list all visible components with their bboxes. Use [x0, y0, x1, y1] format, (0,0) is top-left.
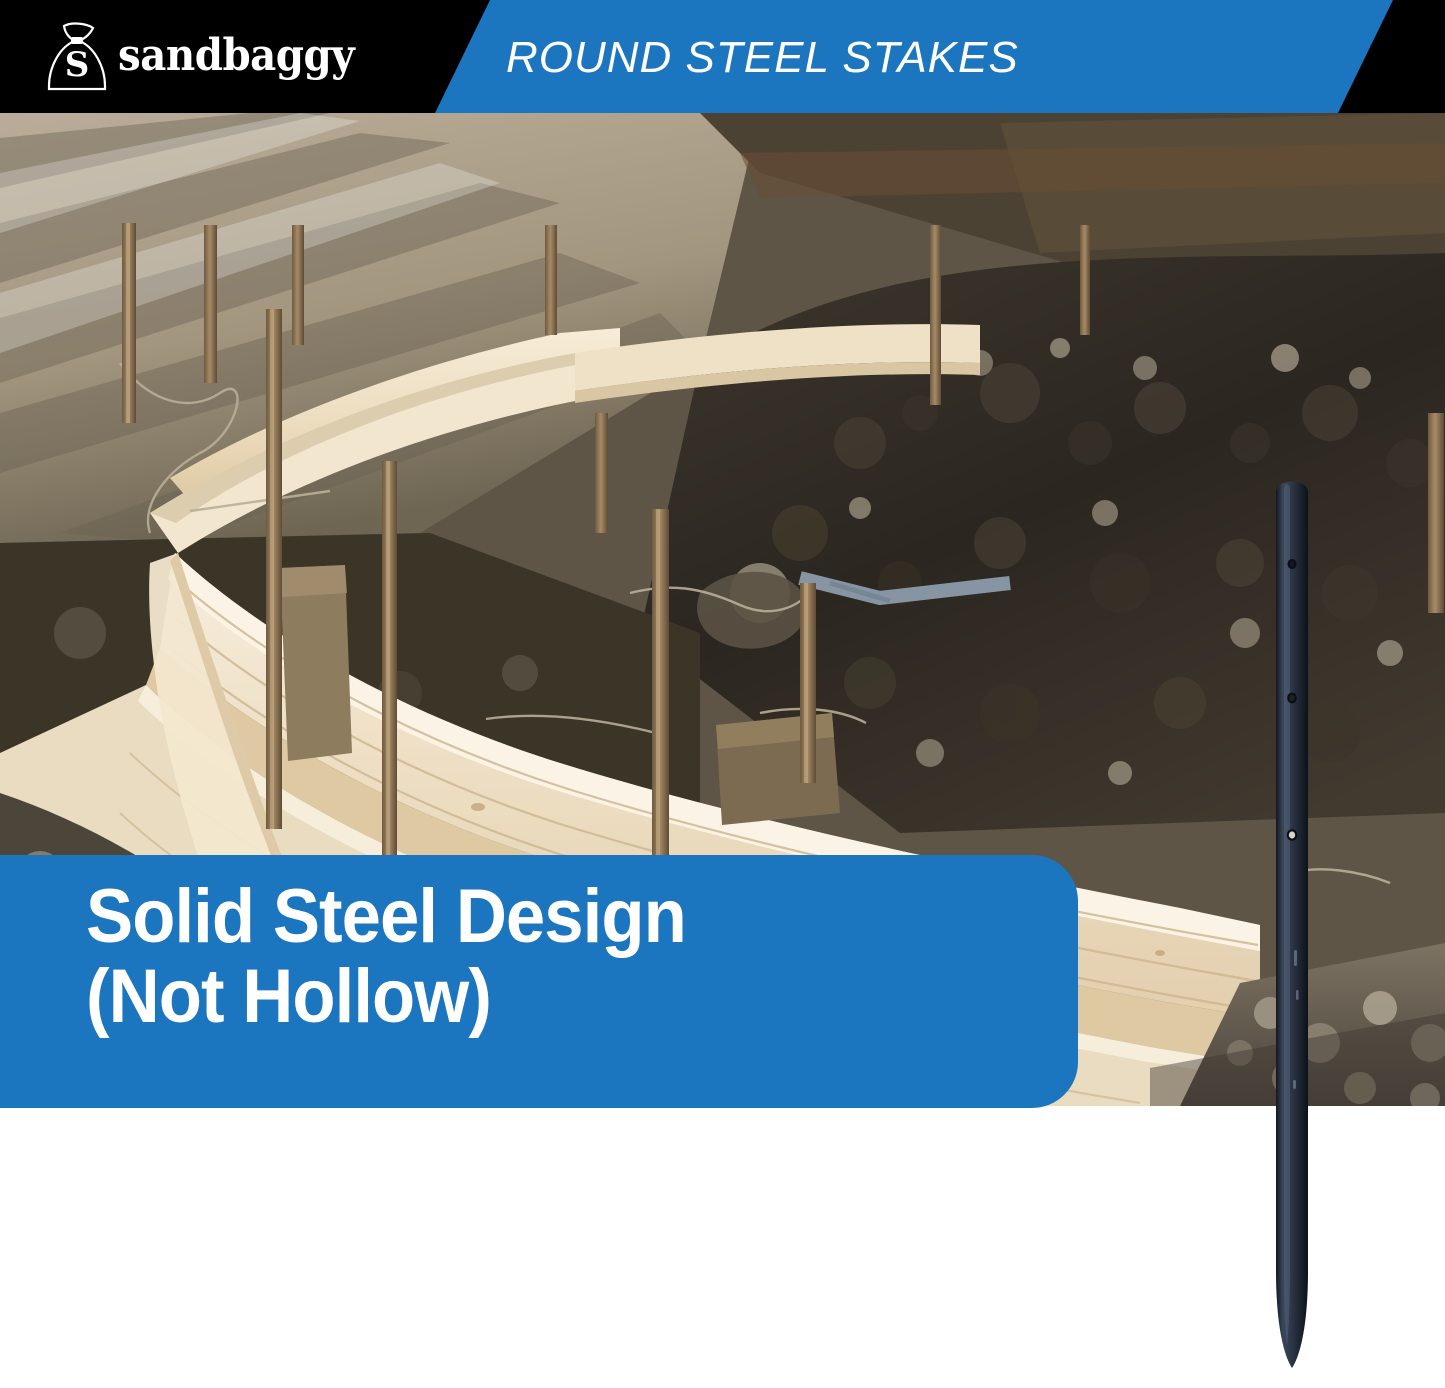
brand-logo[interactable]: S SANDBAGGY: [46, 20, 350, 92]
description-area: These steel concrete stakes have a ¾ inc…: [0, 1108, 1445, 1388]
header-title: ROUND STEEL STAKES: [506, 33, 1019, 83]
sandbag-icon-letter: S: [65, 45, 90, 85]
sandbag-icon: S: [46, 20, 108, 92]
brand-name: SANDBAGGY: [118, 34, 354, 78]
header-bar: S SANDBAGGY ROUND STEEL STAKES: [0, 0, 1445, 113]
headline-line-1: Solid Steel Design: [86, 874, 686, 959]
headline-text: Solid Steel Design(Not Hollow): [86, 877, 686, 1037]
headline-panel: Solid Steel Design(Not Hollow): [0, 855, 1078, 1108]
infographic-page: S SANDBAGGY ROUND STEEL STAKES: [0, 0, 1445, 1388]
headline-line-2: (Not Hollow): [86, 954, 491, 1039]
